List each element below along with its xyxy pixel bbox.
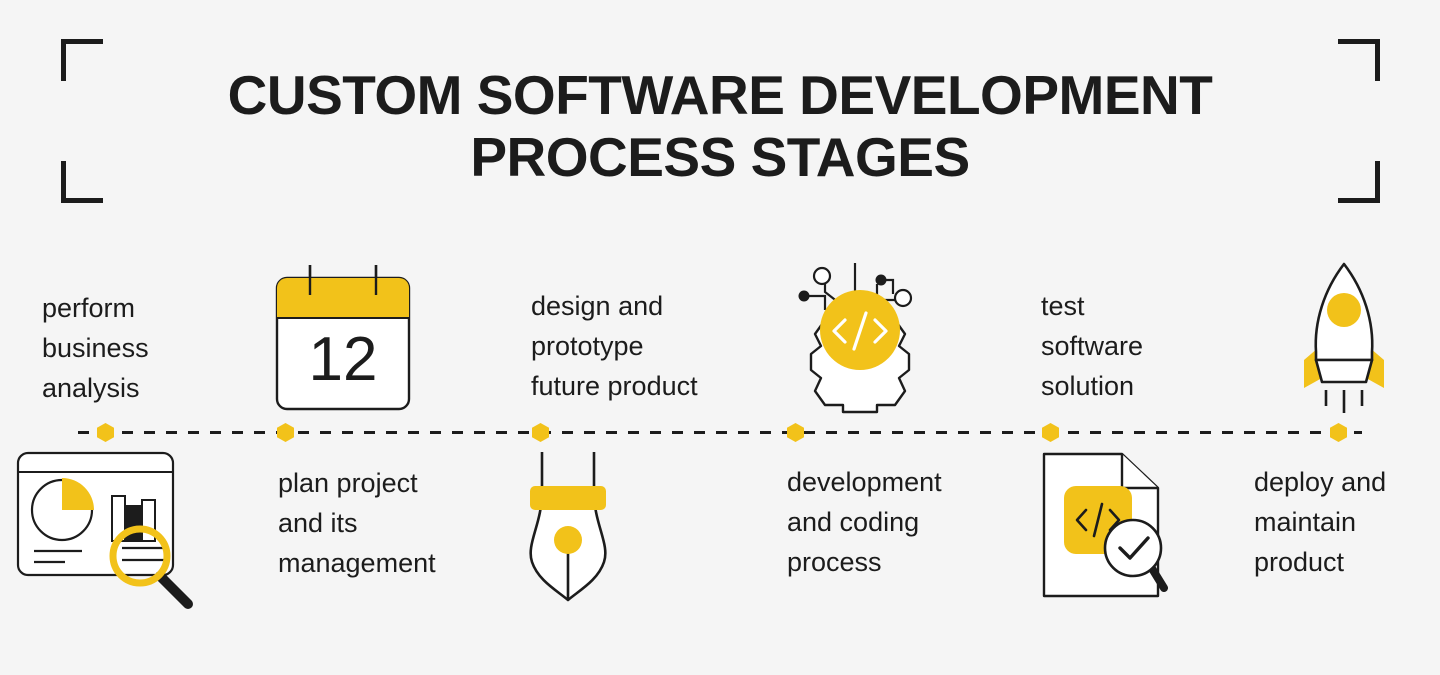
- corner-bracket-top-left: [61, 39, 103, 81]
- timeline-dashed-line: [78, 431, 1362, 434]
- code-gear-icon: [785, 258, 935, 416]
- timeline-marker-6[interactable]: [1330, 423, 1347, 442]
- timeline-marker-2[interactable]: [277, 423, 294, 442]
- calendar-day-number: 12: [309, 325, 378, 394]
- stage-4-label: development and coding process: [787, 462, 1017, 582]
- timeline-marker-3[interactable]: [532, 423, 549, 442]
- analytics-dashboard-icon: [12, 448, 202, 608]
- stage-2-label: plan project and its management: [278, 463, 508, 583]
- stage-6-label: deploy and maintain product: [1254, 462, 1440, 582]
- page-title-line-1: CUSTOM SOFTWARE DEVELOPMENT: [150, 64, 1290, 126]
- page-title: CUSTOM SOFTWARE DEVELOPMENT PROCESS STAG…: [150, 64, 1290, 188]
- page-title-line-2: PROCESS STAGES: [150, 126, 1290, 188]
- stage-3-label: design and prototype future product: [531, 286, 761, 406]
- stage-5-label: test software solution: [1041, 286, 1241, 406]
- timeline-marker-5[interactable]: [1042, 423, 1059, 442]
- rocket-icon: [1294, 260, 1394, 415]
- pen-nib-icon: [518, 452, 618, 604]
- stage-1-label: perform business analysis: [42, 288, 252, 408]
- timeline-marker-1[interactable]: [97, 423, 114, 442]
- corner-bracket-top-right: [1338, 39, 1380, 81]
- timeline-marker-4[interactable]: [787, 423, 804, 442]
- calendar-icon: 12: [273, 262, 413, 412]
- infographic-canvas: CUSTOM SOFTWARE DEVELOPMENT PROCESS STAG…: [0, 0, 1440, 675]
- code-document-check-icon: [1036, 448, 1186, 603]
- corner-bracket-bottom-right: [1338, 161, 1380, 203]
- corner-bracket-bottom-left: [61, 161, 103, 203]
